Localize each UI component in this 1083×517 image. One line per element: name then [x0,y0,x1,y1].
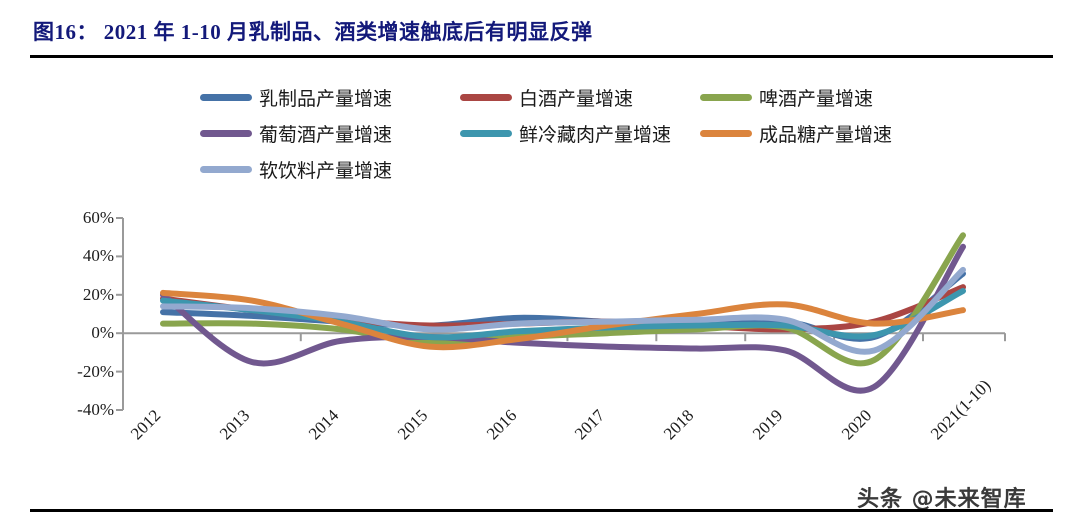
legend-item[interactable]: 成品糖产量增速 [700,116,892,150]
legend-item[interactable]: 葡萄酒产量增速 [200,116,392,150]
header-divider [30,55,1053,58]
legend-item-label: 白酒产量增速 [519,84,633,111]
legend-item[interactable]: 啤酒产量增速 [700,80,873,114]
legend-color-swatch [200,94,252,101]
legend-item[interactable]: 软饮料产量增速 [200,152,392,186]
chart-legend: 乳制品产量增速白酒产量增速啤酒产量增速葡萄酒产量增速鲜冷藏肉产量增速成品糖产量增… [200,80,900,188]
legend-item-label: 鲜冷藏肉产量增速 [519,120,671,147]
legend-color-swatch [460,130,512,137]
legend-row: 软饮料产量增速 [200,152,900,186]
legend-item[interactable]: 鲜冷藏肉产量增速 [460,116,671,150]
legend-color-swatch [700,130,752,137]
legend-item-label: 软饮料产量增速 [259,156,392,183]
legend-item[interactable]: 白酒产量增速 [460,80,633,114]
footer-divider [30,509,1053,512]
legend-color-swatch [200,130,252,137]
figure-header: 图16： 2021 年 1-10 月乳制品、酒类增速触底后有明显反弹 [0,0,1083,62]
legend-row: 葡萄酒产量增速鲜冷藏肉产量增速成品糖产量增速 [200,116,900,150]
legend-item-label: 成品糖产量增速 [759,120,892,147]
chart-plot-area [0,196,1083,441]
legend-color-swatch [460,94,512,101]
legend-item-label: 啤酒产量增速 [759,84,873,111]
legend-color-swatch [200,166,252,173]
legend-item-label: 乳制品产量增速 [259,84,392,111]
legend-item[interactable]: 乳制品产量增速 [200,80,392,114]
chart-svg [0,196,1083,441]
legend-item-label: 葡萄酒产量增速 [259,120,392,147]
figure-title: 图16： 2021 年 1-10 月乳制品、酒类增速触底后有明显反弹 [33,16,593,46]
legend-color-swatch [700,94,752,101]
legend-row: 乳制品产量增速白酒产量增速啤酒产量增速 [200,80,900,114]
